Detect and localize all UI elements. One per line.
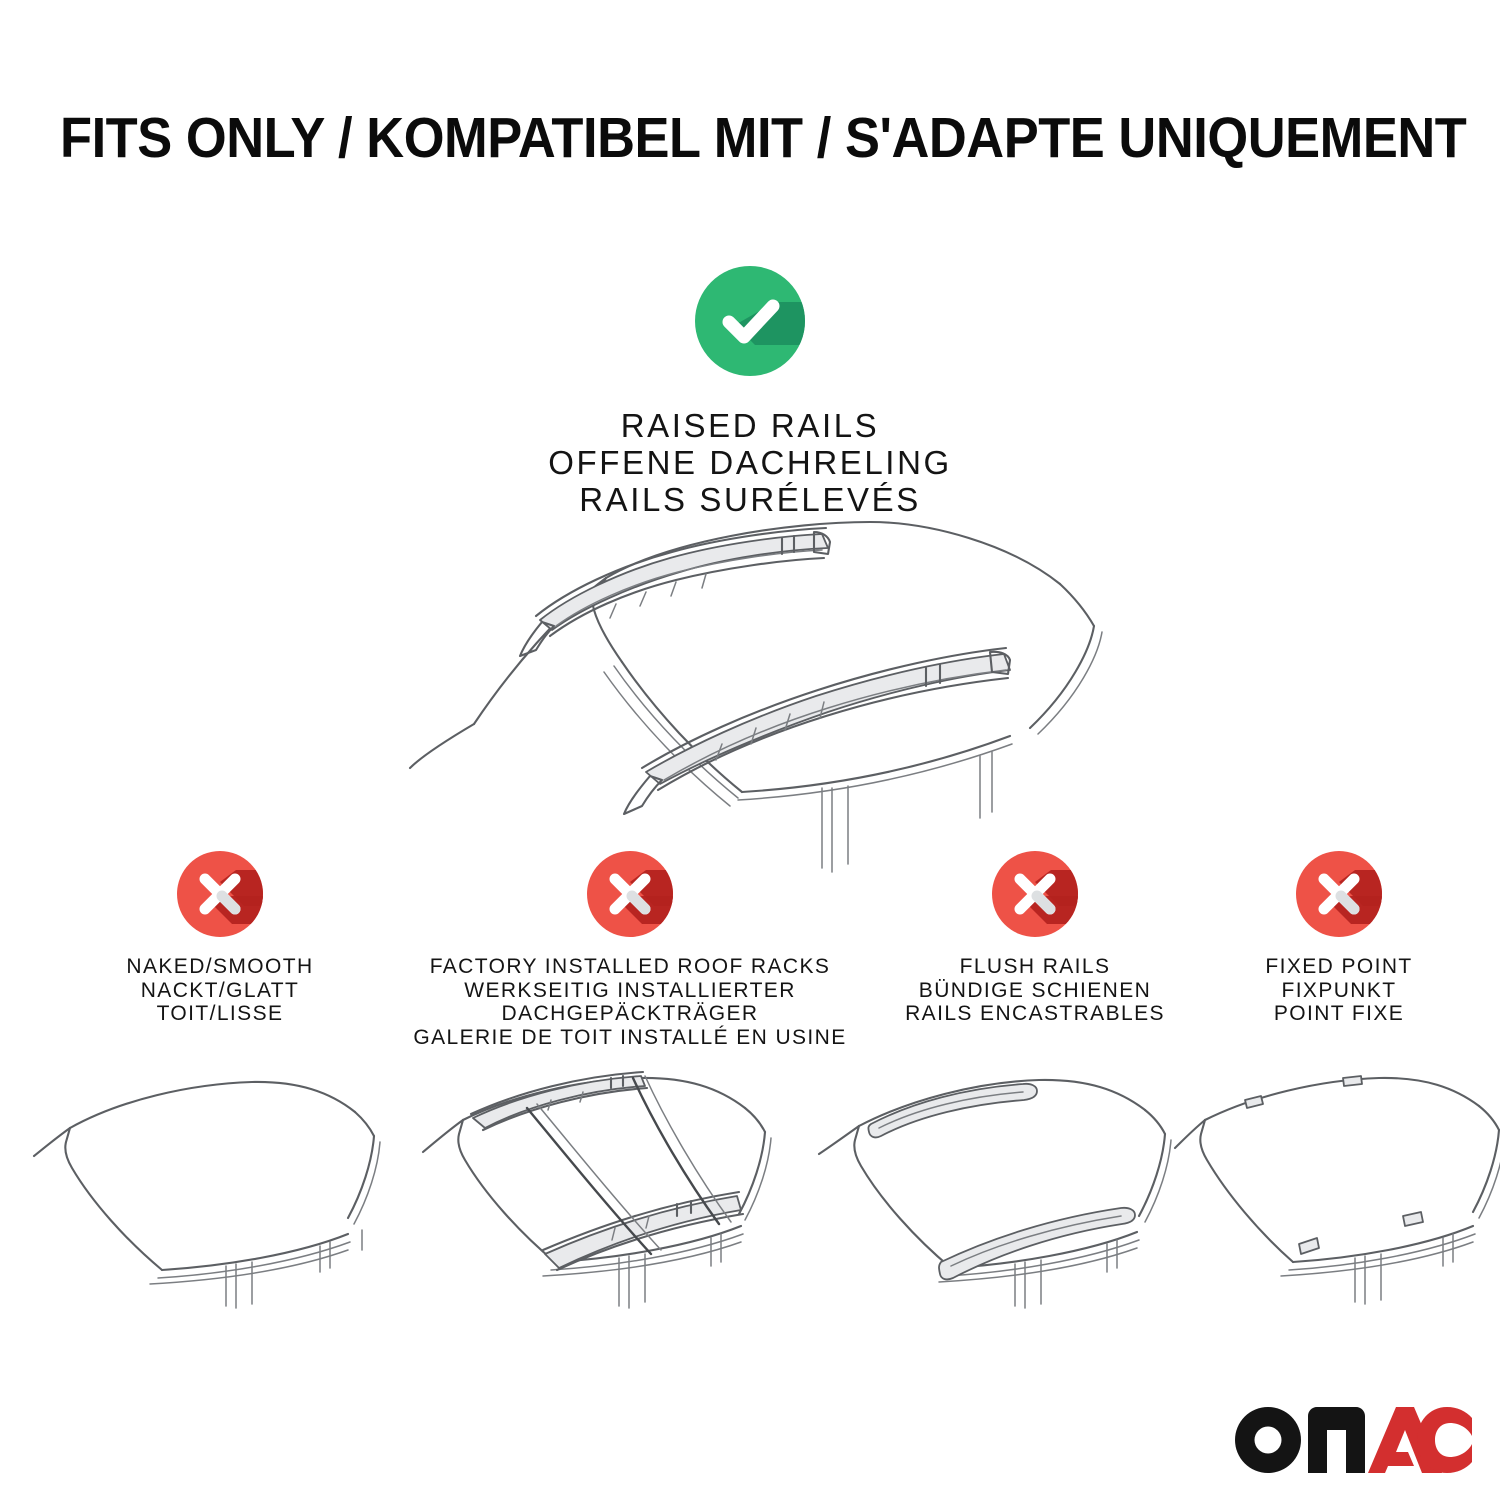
roof-type-illustrations (0, 1058, 1500, 1308)
naked-smooth-roof-illustration (30, 1058, 420, 1308)
check-circle-icon (691, 262, 809, 380)
x-circle-icon (584, 848, 676, 940)
compatible-section: RAISED RAILS OFFENE DACHRELING RAILS SUR… (0, 262, 1500, 518)
incompatible-item-factory-installed-roof-racks: FACTORY INSTALLED ROOF RACKS WERKSEITIG … (400, 848, 860, 1049)
raised-rails-roof-illustration (370, 500, 1130, 830)
x-circle-icon (174, 848, 266, 940)
logo-letter-m (1308, 1407, 1365, 1473)
incompatible-item-fixed-point: FIXED POINT FIXPUNKT POINT FIXE (1208, 848, 1470, 1026)
incompatible-label: NAKED/SMOOTH NACKT/GLATT TOIT/LISSE (40, 955, 400, 1026)
x-circle-icon (989, 848, 1081, 940)
incompatible-item-flush-rails: FLUSH RAILS BÜNDIGE SCHIENEN RAILS ENCAS… (862, 848, 1208, 1026)
flush-rails-roof-illustration (815, 1058, 1215, 1308)
page-title: FITS ONLY / KOMPATIBEL MIT / S'ADAPTE UN… (60, 108, 1440, 168)
incompatible-label: FIXED POINT FIXPUNKT POINT FIXE (1208, 955, 1470, 1026)
fixed-point-roof-illustration (1175, 1058, 1500, 1308)
incompatible-label: FACTORY INSTALLED ROOF RACKS WERKSEITIG … (400, 955, 860, 1049)
incompatible-item-naked-smooth: NAKED/SMOOTH NACKT/GLATT TOIT/LISSE (40, 848, 400, 1026)
logo-letter-c (1417, 1407, 1472, 1473)
factory-racks-roof-illustration (415, 1058, 815, 1308)
x-circle-icon (1293, 848, 1385, 940)
fitment-infographic: FITS ONLY / KOMPATIBEL MIT / S'ADAPTE UN… (0, 0, 1500, 1500)
omac-logo (1228, 1402, 1472, 1474)
incompatible-label: FLUSH RAILS BÜNDIGE SCHIENEN RAILS ENCAS… (862, 955, 1208, 1026)
